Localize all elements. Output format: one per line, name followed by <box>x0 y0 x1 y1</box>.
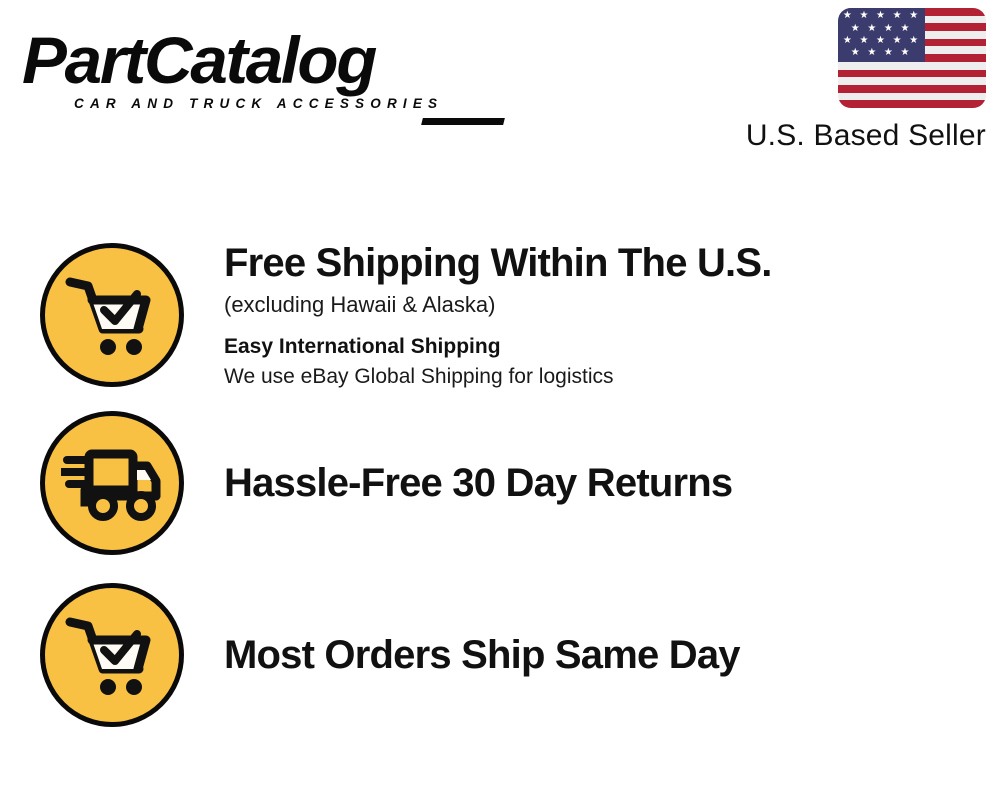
feature-title: Most Orders Ship Same Day <box>224 632 980 679</box>
flag-canton: ★ ★ ★ ★ ★ ★ ★ ★ ★ ★ ★ ★ ★ ★ ★ ★ ★ ★ <box>838 8 925 62</box>
feature-row: Free Shipping Within The U.S. (excluding… <box>40 230 980 400</box>
feature-sub-heading: Easy International Shipping <box>224 332 980 361</box>
brand-underline-swash <box>421 118 505 125</box>
feature-row: Hassle-Free 30 Day Returns <box>40 403 980 563</box>
fast-delivery-truck-icon <box>40 411 184 555</box>
brand-tagline: CAR AND TRUCK ACCESSORIES <box>74 96 492 111</box>
us-based-seller-label: U.S. Based Seller <box>716 119 986 153</box>
feature-subtitle: (excluding Hawaii & Alaska) <box>224 290 980 320</box>
feature-text-block: Hassle-Free 30 Day Returns <box>184 460 980 507</box>
us-based-seller-badge: ★ ★ ★ ★ ★ ★ ★ ★ ★ ★ ★ ★ ★ ★ ★ ★ ★ ★ U.S.… <box>716 8 986 153</box>
feature-row: Most Orders Ship Same Day <box>40 575 980 735</box>
feature-title: Free Shipping Within The U.S. <box>224 240 980 287</box>
feature-sub-detail: We use eBay Global Shipping for logistic… <box>224 362 980 391</box>
brand-logo[interactable]: PartCatalog CAR AND TRUCK ACCESSORIES <box>22 26 492 111</box>
page-header: PartCatalog CAR AND TRUCK ACCESSORIES ★ … <box>0 0 1000 175</box>
us-flag-icon: ★ ★ ★ ★ ★ ★ ★ ★ ★ ★ ★ ★ ★ ★ ★ ★ ★ ★ <box>838 8 986 108</box>
feature-title: Hassle-Free 30 Day Returns <box>224 460 980 507</box>
shopping-cart-check-icon <box>40 583 184 727</box>
brand-wordmark: PartCatalog <box>22 26 501 94</box>
feature-text-block: Most Orders Ship Same Day <box>184 632 980 679</box>
feature-text-block: Free Shipping Within The U.S. (excluding… <box>184 240 980 391</box>
shopping-cart-check-icon <box>40 243 184 387</box>
